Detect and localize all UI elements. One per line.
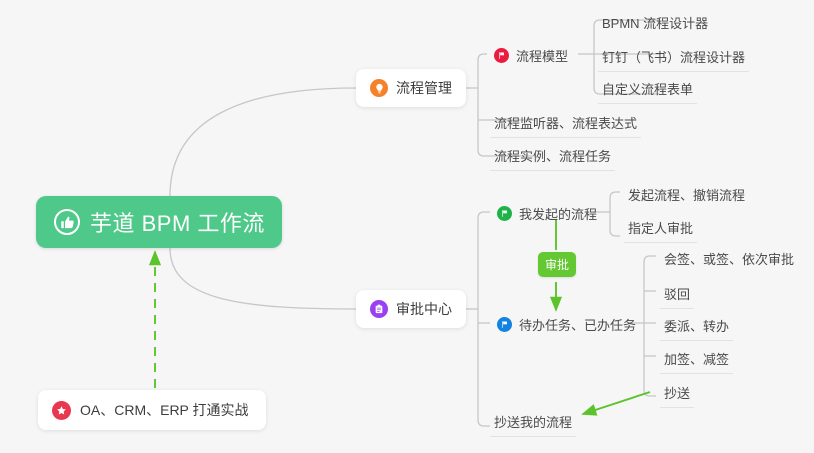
- leaf-process-instance[interactable]: 流程实例、流程任务: [490, 143, 615, 171]
- leaf-label: 流程实例、流程任务: [494, 149, 611, 164]
- leaf-countersign[interactable]: 会签、或签、依次审批: [660, 246, 798, 273]
- branch-label: 流程管理: [396, 78, 452, 98]
- node-my-started-process[interactable]: 我发起的流程: [493, 201, 601, 228]
- lightbulb-icon: [370, 79, 388, 97]
- leaf-label: 驳回: [664, 287, 690, 302]
- footer-node-integration[interactable]: OA、CRM、ERP 打通实战: [38, 390, 266, 430]
- leaf-label: 抄送我的流程: [494, 415, 572, 430]
- leaf-label: 钉钉（飞书）流程设计器: [602, 50, 745, 65]
- clipboard-icon: [370, 300, 388, 318]
- leaf-add-remove-sign[interactable]: 加签、减签: [660, 346, 733, 374]
- leaf-dingtalk-designer[interactable]: 钉钉（飞书）流程设计器: [598, 44, 749, 72]
- thumbs-up-icon: [54, 209, 80, 235]
- star-icon: [52, 401, 71, 420]
- leaf-delegate-transfer[interactable]: 委派、转办: [660, 313, 733, 341]
- node-process-model[interactable]: 流程模型: [490, 43, 572, 70]
- branch-node-approval-center[interactable]: 审批中心: [356, 290, 466, 328]
- leaf-bpmn-designer[interactable]: BPMN 流程设计器: [598, 10, 712, 37]
- flag-icon: [497, 206, 512, 221]
- leaf-label: 会签、或签、依次审批: [664, 252, 794, 267]
- leaf-start-cancel-process[interactable]: 发起流程、撤销流程: [624, 182, 749, 209]
- branch-label: 审批中心: [396, 299, 452, 319]
- root-node[interactable]: 芋道 BPM 工作流: [36, 196, 282, 248]
- branch-node-process-management[interactable]: 流程管理: [356, 69, 466, 107]
- node-label: 流程模型: [516, 46, 568, 65]
- leaf-label: 指定人审批: [628, 221, 693, 236]
- leaf-custom-form[interactable]: 自定义流程表单: [598, 76, 697, 104]
- annotation-badge-approval: 审批: [538, 252, 576, 277]
- leaf-process-listener[interactable]: 流程监听器、流程表达式: [490, 110, 641, 138]
- leaf-label: 自定义流程表单: [602, 82, 693, 97]
- leaf-label: 抄送: [664, 386, 690, 401]
- node-todo-done-tasks[interactable]: 待办任务、已办任务: [493, 312, 640, 339]
- badge-label: 审批: [545, 258, 569, 272]
- leaf-reject[interactable]: 驳回: [660, 281, 694, 309]
- leaf-assignee-approval[interactable]: 指定人审批: [624, 215, 697, 243]
- leaf-cc-my-process[interactable]: 抄送我的流程: [490, 409, 576, 437]
- leaf-cc[interactable]: 抄送: [660, 380, 694, 408]
- leaf-label: 流程监听器、流程表达式: [494, 116, 637, 131]
- flag-icon: [494, 48, 509, 63]
- leaf-label: 发起流程、撤销流程: [628, 188, 745, 203]
- flag-icon: [497, 317, 512, 332]
- leaf-label: 委派、转办: [664, 319, 729, 334]
- root-label: 芋道 BPM 工作流: [90, 206, 265, 238]
- leaf-label: BPMN 流程设计器: [602, 16, 708, 31]
- mindmap-canvas: 芋道 BPM 工作流 流程管理 流程模型 BPMN 流程设计器 钉钉（飞书）流程…: [0, 0, 814, 453]
- leaf-label: 加签、减签: [664, 352, 729, 367]
- node-label: 待办任务、已办任务: [519, 315, 636, 334]
- node-label: 我发起的流程: [519, 204, 597, 223]
- footer-label: OA、CRM、ERP 打通实战: [80, 400, 249, 420]
